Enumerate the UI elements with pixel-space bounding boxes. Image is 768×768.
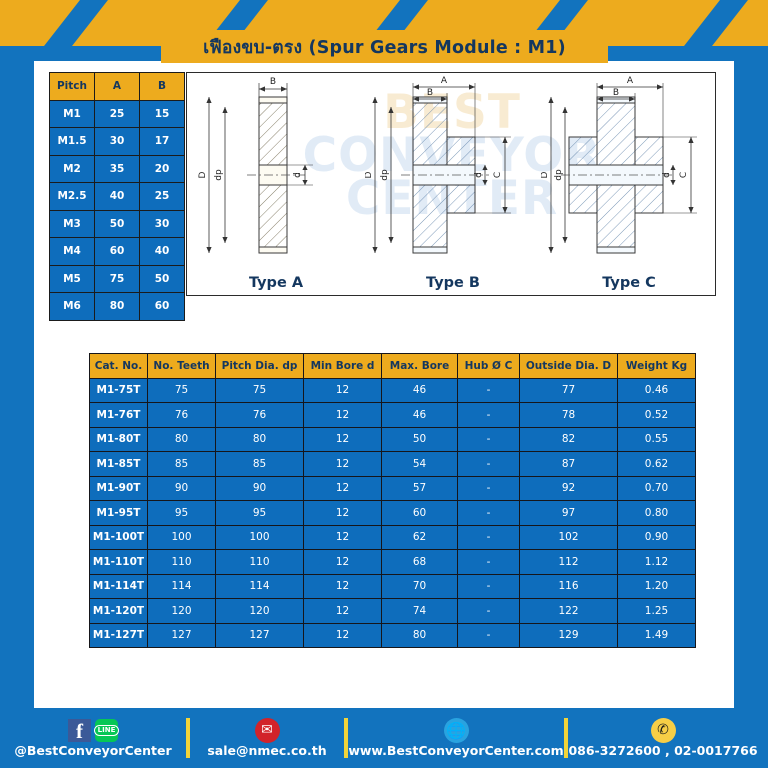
spec-cell-min-bore: 12 — [304, 525, 382, 550]
table-row: M1-95T 95 95 12 60 - 97 0.80 — [90, 501, 696, 526]
spec-header-hub-c: Hub Ø C — [458, 354, 520, 379]
table-row: M1-76T 76 76 12 46 - 78 0.52 — [90, 403, 696, 428]
svg-text:dp: dp — [214, 169, 224, 181]
spec-cell-max-bore: 80 — [382, 623, 458, 648]
pitch-header-a: A — [95, 73, 140, 101]
pitch-cell: M1 — [50, 100, 95, 128]
spec-cell-pitch-dia: 75 — [216, 378, 304, 403]
spec-cell-outside-dia: 78 — [520, 403, 618, 428]
spec-cell-outside-dia: 77 — [520, 378, 618, 403]
spec-cell-pitch-dia: 127 — [216, 623, 304, 648]
spec-cell-min-bore: 12 — [304, 550, 382, 575]
pitch-cell: M1.5 — [50, 128, 95, 156]
spec-cell-cat-no: M1-114T — [90, 574, 148, 599]
spec-table-header-row: Cat. No. No. Teeth Pitch Dia. dp Min Bor… — [90, 354, 696, 379]
spec-cell-no-teeth: 75 — [148, 378, 216, 403]
spec-cell-pitch-dia: 85 — [216, 452, 304, 477]
footer-phone-icons: ✆ — [651, 718, 676, 742]
pitch-cell: 30 — [140, 210, 185, 238]
spec-cell-hub-c: - — [458, 599, 520, 624]
type-a-label: Type A — [187, 275, 365, 291]
spec-cell-max-bore: 46 — [382, 403, 458, 428]
line-glyph: LINE — [94, 725, 120, 736]
footer-social-text: @BestConveyorCenter — [14, 743, 171, 758]
spec-cell-outside-dia: 97 — [520, 501, 618, 526]
spec-cell-weight: 0.52 — [618, 403, 696, 428]
spec-cell-weight: 0.90 — [618, 525, 696, 550]
spec-header-no-teeth: No. Teeth — [148, 354, 216, 379]
table-row: M1-75T 75 75 12 46 - 77 0.46 — [90, 378, 696, 403]
spec-cell-min-bore: 12 — [304, 378, 382, 403]
spec-header-weight: Weight Kg — [618, 354, 696, 379]
drawing-type-b: A B D dp — [365, 73, 541, 296]
footer-email-text: sale@nmec.co.th — [207, 743, 326, 758]
table-row: M1-85T 85 85 12 54 - 87 0.62 — [90, 452, 696, 477]
svg-text:B: B — [613, 88, 619, 98]
spec-cell-min-bore: 12 — [304, 452, 382, 477]
spec-cell-weight: 0.80 — [618, 501, 696, 526]
table-row: M1-100T 100 100 12 62 - 102 0.90 — [90, 525, 696, 550]
pitch-cell: M5 — [50, 265, 95, 293]
spec-cell-max-bore: 62 — [382, 525, 458, 550]
spec-cell-hub-c: - — [458, 574, 520, 599]
spec-cell-cat-no: M1-90T — [90, 476, 148, 501]
spec-cell-weight: 1.49 — [618, 623, 696, 648]
footer-social[interactable]: f LINE @BestConveyorCenter — [0, 708, 186, 768]
spec-cell-min-bore: 12 — [304, 476, 382, 501]
spec-cell-max-bore: 46 — [382, 378, 458, 403]
pitch-cell: M2 — [50, 155, 95, 183]
chevron-stripe — [0, 0, 86, 46]
pitch-cell: 17 — [140, 128, 185, 156]
pitch-cell: 20 — [140, 155, 185, 183]
spec-cell-hub-c: - — [458, 525, 520, 550]
spec-cell-min-bore: 12 — [304, 574, 382, 599]
table-row: M1 25 15 — [50, 100, 185, 128]
page-root: เฟืองขบ-ตรง (Spur Gears Module : M1) Pit… — [0, 0, 768, 768]
svg-text:B: B — [427, 88, 433, 98]
spec-cell-hub-c: - — [458, 403, 520, 428]
table-row: M1.5 30 17 — [50, 128, 185, 156]
spec-cell-max-bore: 54 — [382, 452, 458, 477]
spec-cell-pitch-dia: 95 — [216, 501, 304, 526]
pitch-cell: 30 — [95, 128, 140, 156]
spec-cell-pitch-dia: 76 — [216, 403, 304, 428]
svg-text:d: d — [474, 172, 484, 178]
envelope-icon[interactable]: ✉ — [255, 718, 280, 743]
pitch-cell: 40 — [140, 238, 185, 266]
pitch-cell: 35 — [95, 155, 140, 183]
pitch-cell: 80 — [95, 293, 140, 321]
spec-cell-min-bore: 12 — [304, 599, 382, 624]
svg-text:dp: dp — [380, 169, 390, 181]
pitch-reference-table: Pitch A B M1 25 15 M1.5 30 17 M2 35 20 — [49, 72, 185, 321]
pitch-header-pitch: Pitch — [50, 73, 95, 101]
spec-cell-weight: 0.62 — [618, 452, 696, 477]
spec-header-pitch-dia: Pitch Dia. dp — [216, 354, 304, 379]
table-row: M1-110T 110 110 12 68 - 112 1.12 — [90, 550, 696, 575]
spec-cell-outside-dia: 116 — [520, 574, 618, 599]
pitch-table-body: M1 25 15 M1.5 30 17 M2 35 20 M2.5 40 25 … — [50, 100, 185, 320]
spec-cell-pitch-dia: 100 — [216, 525, 304, 550]
pitch-cell: 40 — [95, 183, 140, 211]
spec-cell-outside-dia: 87 — [520, 452, 618, 477]
table-row: M1-80T 80 80 12 50 - 82 0.55 — [90, 427, 696, 452]
svg-text:d: d — [293, 172, 303, 178]
spec-cell-weight: 1.20 — [618, 574, 696, 599]
phone-icon[interactable]: ✆ — [651, 718, 676, 743]
footer-contact-bar: f LINE @BestConveyorCenter ✉ sale@nmec.c… — [0, 708, 768, 768]
spec-cell-cat-no: M1-95T — [90, 501, 148, 526]
line-icon[interactable]: LINE — [95, 719, 118, 742]
spec-header-outside-dia: Outside Dia. D — [520, 354, 618, 379]
spec-cell-no-teeth: 127 — [148, 623, 216, 648]
spec-cell-no-teeth: 85 — [148, 452, 216, 477]
spec-cell-hub-c: - — [458, 427, 520, 452]
spec-cell-hub-c: - — [458, 378, 520, 403]
pitch-cell: M6 — [50, 293, 95, 321]
spec-cell-cat-no: M1-120T — [90, 599, 148, 624]
footer-email[interactable]: ✉ sale@nmec.co.th — [190, 708, 344, 768]
spec-cell-no-teeth: 120 — [148, 599, 216, 624]
table-row: M1-120T 120 120 12 74 - 122 1.25 — [90, 599, 696, 624]
spec-cell-hub-c: - — [458, 550, 520, 575]
spec-cell-weight: 0.55 — [618, 427, 696, 452]
svg-text:D: D — [365, 171, 374, 178]
table-row: M5 75 50 — [50, 265, 185, 293]
table-row: M4 60 40 — [50, 238, 185, 266]
spec-cell-outside-dia: 129 — [520, 623, 618, 648]
spec-cell-no-teeth: 76 — [148, 403, 216, 428]
spec-cell-cat-no: M1-85T — [90, 452, 148, 477]
footer-email-icons: ✉ — [255, 718, 280, 742]
type-c-svg: A B D dp — [541, 75, 716, 271]
spec-cell-pitch-dia: 80 — [216, 427, 304, 452]
type-a-svg: B D dp d — [187, 75, 365, 271]
pitch-cell: 60 — [140, 293, 185, 321]
spec-cell-pitch-dia: 120 — [216, 599, 304, 624]
page-title-banner: เฟืองขบ-ตรง (Spur Gears Module : M1) — [161, 30, 608, 63]
pitch-cell: 50 — [140, 265, 185, 293]
spec-cell-cat-no: M1-127T — [90, 623, 148, 648]
spec-cell-cat-no: M1-75T — [90, 378, 148, 403]
spec-cell-cat-no: M1-76T — [90, 403, 148, 428]
spec-cell-pitch-dia: 110 — [216, 550, 304, 575]
svg-text:D: D — [541, 171, 550, 178]
pitch-cell: 25 — [95, 100, 140, 128]
phone-glyph: ✆ — [657, 722, 669, 738]
spec-cell-weight: 0.46 — [618, 378, 696, 403]
facebook-icon[interactable]: f — [68, 719, 91, 742]
spec-cell-cat-no: M1-110T — [90, 550, 148, 575]
chevron-stripe — [706, 0, 768, 46]
spec-cell-min-bore: 12 — [304, 623, 382, 648]
spec-cell-weight: 1.12 — [618, 550, 696, 575]
spec-cell-weight: 1.25 — [618, 599, 696, 624]
spec-cell-hub-c: - — [458, 623, 520, 648]
type-b-label: Type B — [365, 275, 541, 291]
spec-cell-outside-dia: 102 — [520, 525, 618, 550]
svg-text:D: D — [198, 171, 208, 178]
spec-cell-hub-c: - — [458, 452, 520, 477]
svg-text:B: B — [270, 77, 276, 87]
spec-cell-outside-dia: 122 — [520, 599, 618, 624]
table-row: M3 50 30 — [50, 210, 185, 238]
spec-header-cat-no: Cat. No. — [90, 354, 148, 379]
pitch-cell: 60 — [95, 238, 140, 266]
pitch-table-header-row: Pitch A B — [50, 73, 185, 101]
spec-cell-max-bore: 68 — [382, 550, 458, 575]
spec-cell-no-teeth: 100 — [148, 525, 216, 550]
spec-cell-outside-dia: 82 — [520, 427, 618, 452]
pitch-cell: 75 — [95, 265, 140, 293]
svg-text:A: A — [627, 76, 634, 86]
spec-table: Cat. No. No. Teeth Pitch Dia. dp Min Bor… — [89, 353, 696, 648]
footer-web-icons: 🌐 — [444, 718, 469, 742]
spec-cell-no-teeth: 114 — [148, 574, 216, 599]
table-row: M6 80 60 — [50, 293, 185, 321]
spec-cell-max-bore: 50 — [382, 427, 458, 452]
spec-cell-weight: 0.70 — [618, 476, 696, 501]
spec-cell-pitch-dia: 114 — [216, 574, 304, 599]
footer-phone-text: 086-3272600 , 02-0017766 — [568, 743, 757, 758]
svg-text:C: C — [493, 172, 503, 178]
pitch-cell: M2.5 — [50, 183, 95, 211]
type-c-label: Type C — [541, 275, 716, 291]
globe-icon[interactable]: 🌐 — [444, 718, 469, 743]
spec-cell-no-teeth: 90 — [148, 476, 216, 501]
spec-cell-max-bore: 57 — [382, 476, 458, 501]
svg-text:d: d — [662, 172, 672, 178]
type-b-svg: A B D dp — [365, 75, 541, 271]
page-title: เฟืองขบ-ตรง (Spur Gears Module : M1) — [203, 33, 566, 61]
spec-cell-no-teeth: 95 — [148, 501, 216, 526]
table-row: M2.5 40 25 — [50, 183, 185, 211]
spec-cell-cat-no: M1-100T — [90, 525, 148, 550]
spec-cell-min-bore: 12 — [304, 427, 382, 452]
envelope-glyph: ✉ — [261, 722, 273, 738]
spec-cell-hub-c: - — [458, 501, 520, 526]
spec-table-body: M1-75T 75 75 12 46 - 77 0.46 M1-76T 76 7… — [90, 378, 696, 648]
spec-cell-no-teeth: 80 — [148, 427, 216, 452]
svg-text:A: A — [441, 76, 448, 86]
svg-text:C: C — [679, 172, 689, 178]
spec-cell-hub-c: - — [458, 476, 520, 501]
globe-glyph: 🌐 — [446, 721, 466, 740]
spec-cell-outside-dia: 92 — [520, 476, 618, 501]
spec-cell-max-bore: 70 — [382, 574, 458, 599]
spec-cell-cat-no: M1-80T — [90, 427, 148, 452]
drawing-type-a: B D dp d Type A — [187, 73, 365, 296]
pitch-cell: M3 — [50, 210, 95, 238]
footer-website[interactable]: 🌐 www.BestConveyorCenter.com — [348, 708, 564, 768]
table-row: M2 35 20 — [50, 155, 185, 183]
spec-cell-max-bore: 60 — [382, 501, 458, 526]
spec-cell-pitch-dia: 90 — [216, 476, 304, 501]
pitch-cell: 50 — [95, 210, 140, 238]
footer-phone[interactable]: ✆ 086-3272600 , 02-0017766 — [568, 708, 758, 768]
technical-drawing-panel: BEST CONVEYOR CENTER — [186, 72, 716, 296]
spec-cell-no-teeth: 110 — [148, 550, 216, 575]
footer-social-icons: f LINE — [68, 718, 118, 742]
drawing-type-c: A B D dp — [541, 73, 716, 296]
pitch-cell: 15 — [140, 100, 185, 128]
pitch-cell: M4 — [50, 238, 95, 266]
spec-cell-outside-dia: 112 — [520, 550, 618, 575]
table-row: M1-114T 114 114 12 70 - 116 1.20 — [90, 574, 696, 599]
spec-cell-min-bore: 12 — [304, 501, 382, 526]
pitch-cell: 25 — [140, 183, 185, 211]
table-row: M1-127T 127 127 12 80 - 129 1.49 — [90, 623, 696, 648]
svg-text:dp: dp — [554, 169, 564, 181]
pitch-header-b: B — [140, 73, 185, 101]
spec-cell-min-bore: 12 — [304, 403, 382, 428]
spec-header-min-bore: Min Bore d — [304, 354, 382, 379]
facebook-glyph: f — [76, 722, 83, 742]
footer-website-text: www.BestConveyorCenter.com — [348, 743, 563, 758]
spec-header-max-bore: Max. Bore — [382, 354, 458, 379]
table-row: M1-90T 90 90 12 57 - 92 0.70 — [90, 476, 696, 501]
spec-cell-max-bore: 74 — [382, 599, 458, 624]
